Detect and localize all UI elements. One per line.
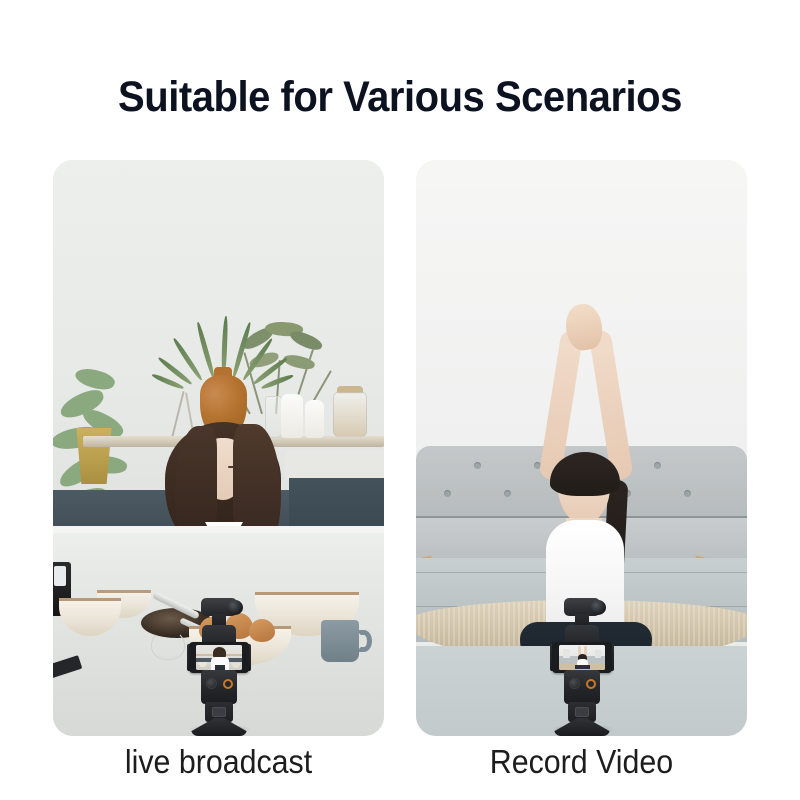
backsplash — [285, 450, 384, 480]
page-title: Suitable for Various Scenarios — [28, 72, 772, 122]
counter-edge — [53, 526, 384, 533]
mounted-phone[interactable] — [552, 642, 612, 673]
caption-live-broadcast: live broadcast — [66, 742, 371, 782]
battery-indicator-icon — [575, 707, 589, 717]
record-button[interactable] — [223, 679, 233, 689]
caption-record-video: Record Video — [429, 742, 734, 782]
phone-screen-preview — [196, 645, 242, 670]
battery-indicator-icon — [212, 707, 226, 717]
tripod-base — [554, 718, 610, 736]
blue-mug — [321, 620, 359, 662]
phone-screen-preview — [559, 645, 605, 670]
promo-page: Suitable for Various Scenarios — [0, 0, 800, 800]
scenario-card-record-video[interactable] — [416, 160, 747, 736]
scenario-card-grid — [53, 160, 747, 736]
camera-lens-icon — [590, 600, 606, 615]
record-button[interactable] — [586, 679, 596, 689]
function-button[interactable] — [569, 678, 580, 689]
function-button[interactable] — [206, 678, 217, 689]
ceramic-bottle-2 — [305, 400, 324, 438]
cork-lid-jar — [333, 392, 367, 437]
tripod-base — [191, 718, 247, 736]
kitchen-scene-image — [53, 160, 384, 736]
gimbal-device-left[interactable] — [185, 598, 253, 736]
gimbal-device-right[interactable] — [548, 598, 616, 736]
camera-lens-icon — [227, 600, 243, 615]
scenario-card-live-broadcast[interactable] — [53, 160, 384, 736]
mounted-phone[interactable] — [189, 642, 249, 673]
yoga-scene-image — [416, 160, 747, 736]
